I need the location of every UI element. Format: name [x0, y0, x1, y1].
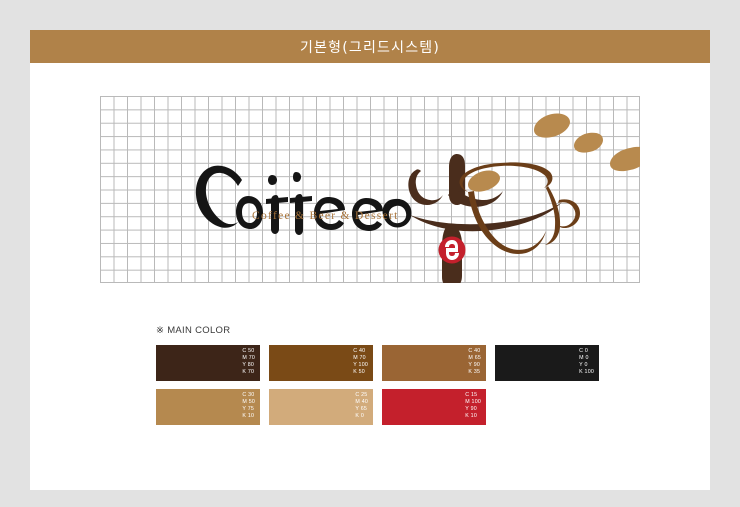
- swatch-row-2: C 30 M 50 Y 75 K 10 C 25 M 40 Y 65 K 0: [156, 389, 626, 425]
- color-swatch[interactable]: C 25 M 40 Y 65 K 0: [269, 389, 373, 425]
- cmyk-m: M 70: [353, 355, 368, 362]
- swatch-cmyk-values: C 15 M 100 Y 90 K 10: [465, 392, 481, 420]
- cmyk-y: Y 90: [465, 406, 481, 413]
- cmyk-m: M 0: [579, 355, 594, 362]
- color-swatch[interactable]: C 15 M 100 Y 90 K 10: [382, 389, 486, 425]
- page-sheet: 기본형(그리드시스템): [30, 30, 710, 490]
- cmyk-c: C 50: [242, 348, 255, 355]
- cmyk-m: M 100: [465, 399, 481, 406]
- cmyk-k: K 10: [465, 413, 481, 420]
- cmyk-m: M 40: [355, 399, 368, 406]
- cmyk-y: Y 80: [242, 362, 255, 369]
- swatch-cmyk-values: C 30 M 50 Y 75 K 10: [242, 392, 255, 420]
- swatch-cmyk-values: C 50 M 70 Y 80 K 70: [242, 348, 255, 376]
- cmyk-c: C 15: [465, 392, 481, 399]
- page-title: 기본형(그리드시스템): [300, 37, 440, 57]
- swatch-row-1: C 50 M 70 Y 80 K 70 C 40 M 70 Y 100 K 50: [156, 345, 626, 381]
- cmyk-c: C 40: [468, 348, 481, 355]
- header-band: 기본형(그리드시스템): [30, 30, 710, 63]
- cmyk-k: K 50: [353, 369, 368, 376]
- color-swatch[interactable]: C 0 M 0 Y 0 K 100: [495, 345, 599, 381]
- cmyk-c: C 30: [242, 392, 255, 399]
- cmyk-m: M 70: [242, 355, 255, 362]
- cmyk-c: C 25: [355, 392, 368, 399]
- color-swatch[interactable]: C 40 M 70 Y 100 K 50: [269, 345, 373, 381]
- swatch-cmyk-values: C 40 M 65 Y 90 K 35: [468, 348, 481, 376]
- main-color-label: ※ MAIN COLOR: [156, 325, 626, 336]
- swatch-cmyk-values: C 25 M 40 Y 65 K 0: [355, 392, 368, 420]
- cmyk-y: Y 100: [353, 362, 368, 369]
- swatch-cmyk-values: C 0 M 0 Y 0 K 100: [579, 348, 594, 376]
- cmyk-c: C 0: [579, 348, 594, 355]
- grid-artboard: [100, 96, 640, 283]
- cmyk-y: Y 0: [579, 362, 594, 369]
- cmyk-c: C 40: [353, 348, 368, 355]
- cmyk-k: K 35: [468, 369, 481, 376]
- color-swatch[interactable]: C 30 M 50 Y 75 K 10: [156, 389, 260, 425]
- cmyk-m: M 65: [468, 355, 481, 362]
- main-color-section: ※ MAIN COLOR C 50 M 70 Y 80 K 70 C 40 M …: [156, 325, 626, 433]
- cmyk-y: Y 65: [355, 406, 368, 413]
- cmyk-k: K 100: [579, 369, 594, 376]
- color-swatch[interactable]: C 50 M 70 Y 80 K 70: [156, 345, 260, 381]
- cmyk-y: Y 90: [468, 362, 481, 369]
- brand-guide-canvas: 기본형(그리드시스템): [0, 0, 740, 507]
- swatch-cmyk-values: C 40 M 70 Y 100 K 50: [353, 348, 368, 376]
- cmyk-y: Y 75: [242, 406, 255, 413]
- cmyk-k: K 10: [242, 413, 255, 420]
- cmyk-m: M 50: [242, 399, 255, 406]
- cmyk-k: K 0: [355, 413, 368, 420]
- cmyk-k: K 70: [242, 369, 255, 376]
- color-swatch[interactable]: C 40 M 65 Y 90 K 35: [382, 345, 486, 381]
